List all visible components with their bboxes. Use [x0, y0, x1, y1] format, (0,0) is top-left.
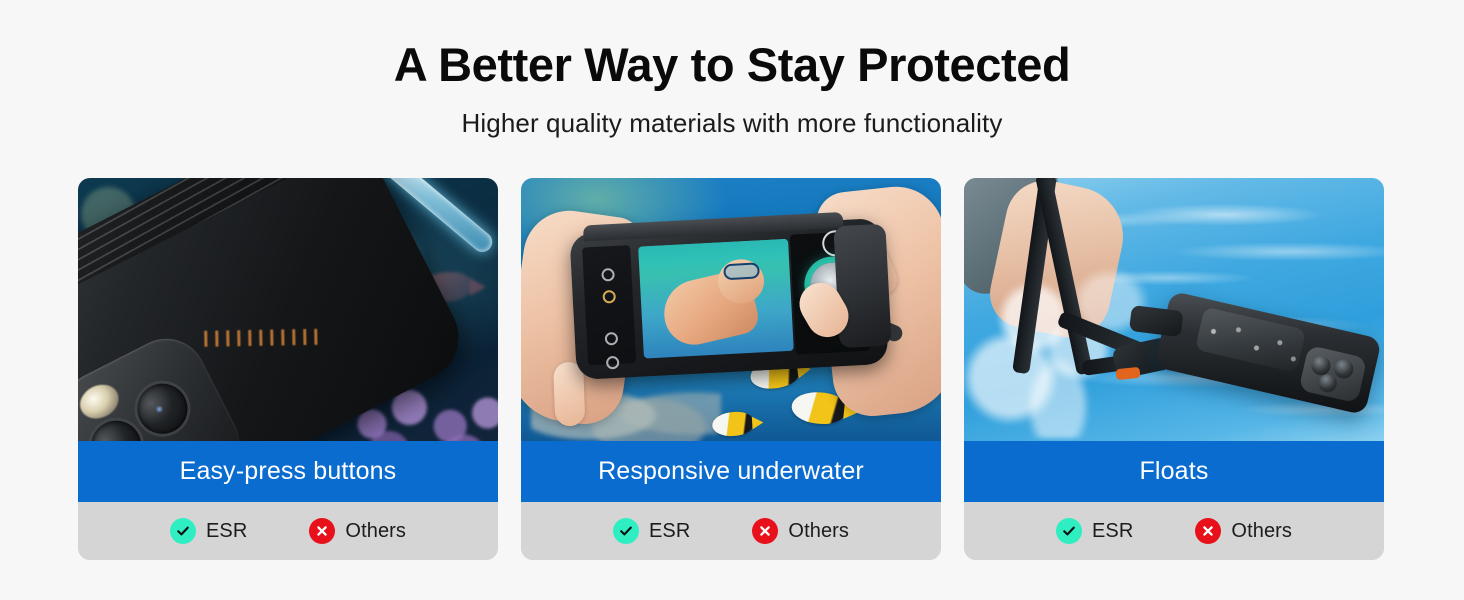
compare-label-others: Others	[788, 521, 849, 541]
snorkel-mask	[723, 262, 760, 280]
compare-item-esr: ESR	[1056, 518, 1133, 544]
compare-label-esr: ESR	[1092, 521, 1133, 541]
card-compare-footer: ESR Others	[78, 502, 498, 560]
card-band: Floats	[964, 441, 1384, 502]
feature-card-row: Easy-press buttons ESR	[78, 178, 1386, 560]
card-image-easy-press-buttons	[78, 178, 498, 441]
compare-label-others: Others	[1231, 521, 1292, 541]
camera-lens	[1332, 358, 1355, 381]
x-circle-icon	[309, 518, 335, 544]
x-circle-icon	[752, 518, 778, 544]
x-circle-icon	[1195, 518, 1221, 544]
camera-viewfinder	[638, 239, 794, 359]
page-subtitle: Higher quality materials with more funct…	[0, 108, 1464, 139]
compare-label-esr: ESR	[649, 521, 690, 541]
camera-lens	[129, 375, 196, 441]
card-image-floats	[964, 178, 1384, 441]
compare-item-others: Others	[1195, 518, 1292, 544]
camera-lens	[1317, 372, 1339, 394]
header: A Better Way to Stay Protected Higher qu…	[0, 0, 1464, 139]
check-circle-icon	[170, 518, 196, 544]
card-band-label: Floats	[1140, 459, 1209, 484]
control-icon	[601, 268, 615, 282]
page-title: A Better Way to Stay Protected	[0, 38, 1464, 92]
card-band-label: Easy-press buttons	[180, 459, 397, 484]
case-texture-dots	[204, 329, 324, 347]
water-surface-decoration	[638, 239, 789, 267]
feature-card[interactable]: Easy-press buttons ESR	[78, 178, 498, 560]
control-icon	[602, 290, 616, 304]
card-band: Responsive underwater	[521, 441, 941, 502]
camera-lens	[135, 439, 202, 441]
feature-card[interactable]: Floats ESR Ot	[964, 178, 1384, 560]
compare-item-others: Others	[309, 518, 406, 544]
card-band: Easy-press buttons	[78, 441, 498, 502]
control-icon	[606, 356, 620, 370]
compare-item-esr: ESR	[613, 518, 690, 544]
card-compare-footer: ESR Others	[964, 502, 1384, 560]
camera-flash	[78, 378, 124, 425]
check-circle-icon	[1056, 518, 1082, 544]
feature-banner: A Better Way to Stay Protected Higher qu…	[0, 0, 1464, 600]
compare-label-esr: ESR	[206, 521, 247, 541]
check-circle-icon	[613, 518, 639, 544]
feature-card[interactable]: Responsive underwater ESR	[521, 178, 941, 560]
control-icon	[605, 332, 619, 346]
compare-item-others: Others	[752, 518, 849, 544]
card-image-responsive-underwater	[521, 178, 941, 441]
case-left-controls	[582, 245, 636, 365]
card-compare-footer: ESR Others	[521, 502, 941, 560]
compare-label-others: Others	[345, 521, 406, 541]
card-band-label: Responsive underwater	[598, 459, 864, 484]
compare-item-esr: ESR	[170, 518, 247, 544]
